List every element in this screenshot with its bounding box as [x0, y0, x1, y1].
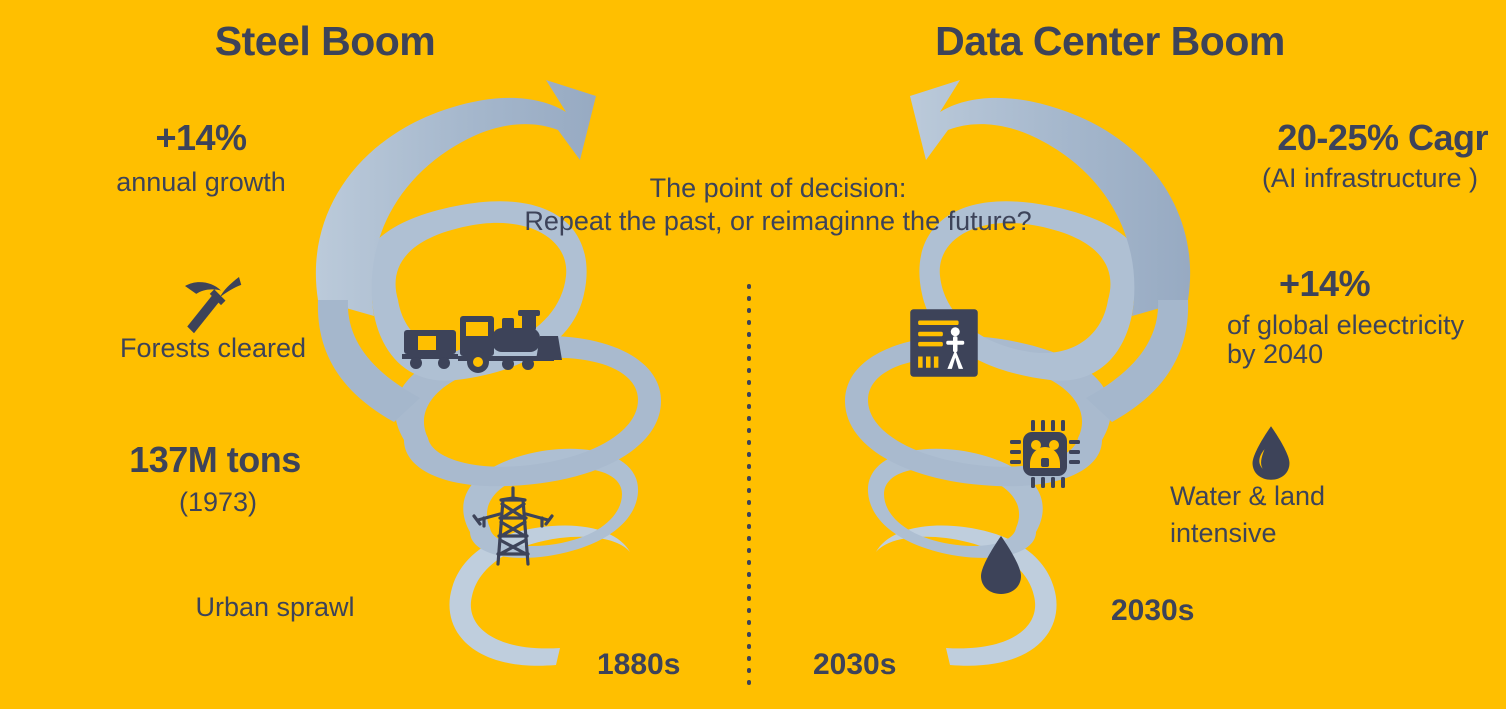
left-panel-title: Steel Boom — [130, 19, 520, 65]
right-stat-electricity-caption2: by 2040 — [1227, 339, 1323, 369]
left-stat-tons-value: 137M tons — [95, 440, 335, 480]
water-drop-small-icon — [975, 534, 1027, 596]
right-label-water-land-line1: Water & land — [1170, 481, 1325, 511]
left-label-forests-cleared: Forests cleared — [18, 333, 408, 363]
spiral-arm-descend — [1086, 300, 1188, 422]
steam-train-icon — [398, 306, 564, 376]
power-pylon-icon — [470, 484, 556, 568]
right-stat-electricity-caption: of global eleectricity — [1227, 310, 1464, 340]
right-stat-cagr-value: 20-25% Cagr — [1120, 118, 1488, 158]
left-stat-tons-caption: (1973) — [120, 487, 316, 517]
left-era-1880s: 1880s — [597, 648, 680, 682]
center-decision-line-2: Repeat the past, or reimaginne the futur… — [468, 205, 1088, 238]
left-label-urban-sprawl: Urban sprawl — [110, 592, 440, 622]
center-decision-line-1: The point of decision: — [468, 172, 1088, 205]
pickaxe-icon — [176, 268, 248, 340]
spiral-tail-loop — [876, 526, 1057, 666]
server-rack-icon — [908, 307, 980, 379]
left-stat-growth-value: +14% — [85, 118, 317, 158]
right-label-water-land-line2: intensive — [1170, 518, 1277, 548]
ai-chip-icon — [1005, 414, 1085, 494]
right-panel-title: Data Center Boom — [910, 19, 1310, 65]
center-decision-text: The point of decision: Repeat the past, … — [468, 172, 1088, 239]
water-drop-icon — [1247, 424, 1295, 482]
right-stat-cagr-caption: (AI infrastructure ) — [1120, 163, 1478, 193]
right-era-2030s-inner: 2030s — [1111, 594, 1194, 628]
right-stat-electricity-value: +14% — [1279, 264, 1370, 304]
infographic-canvas: Steel Boom Data Center Boom +14% annual … — [0, 0, 1506, 709]
left-stat-growth-caption: annual growth — [60, 167, 342, 197]
right-era-2030s-outer: 2030s — [813, 648, 896, 682]
